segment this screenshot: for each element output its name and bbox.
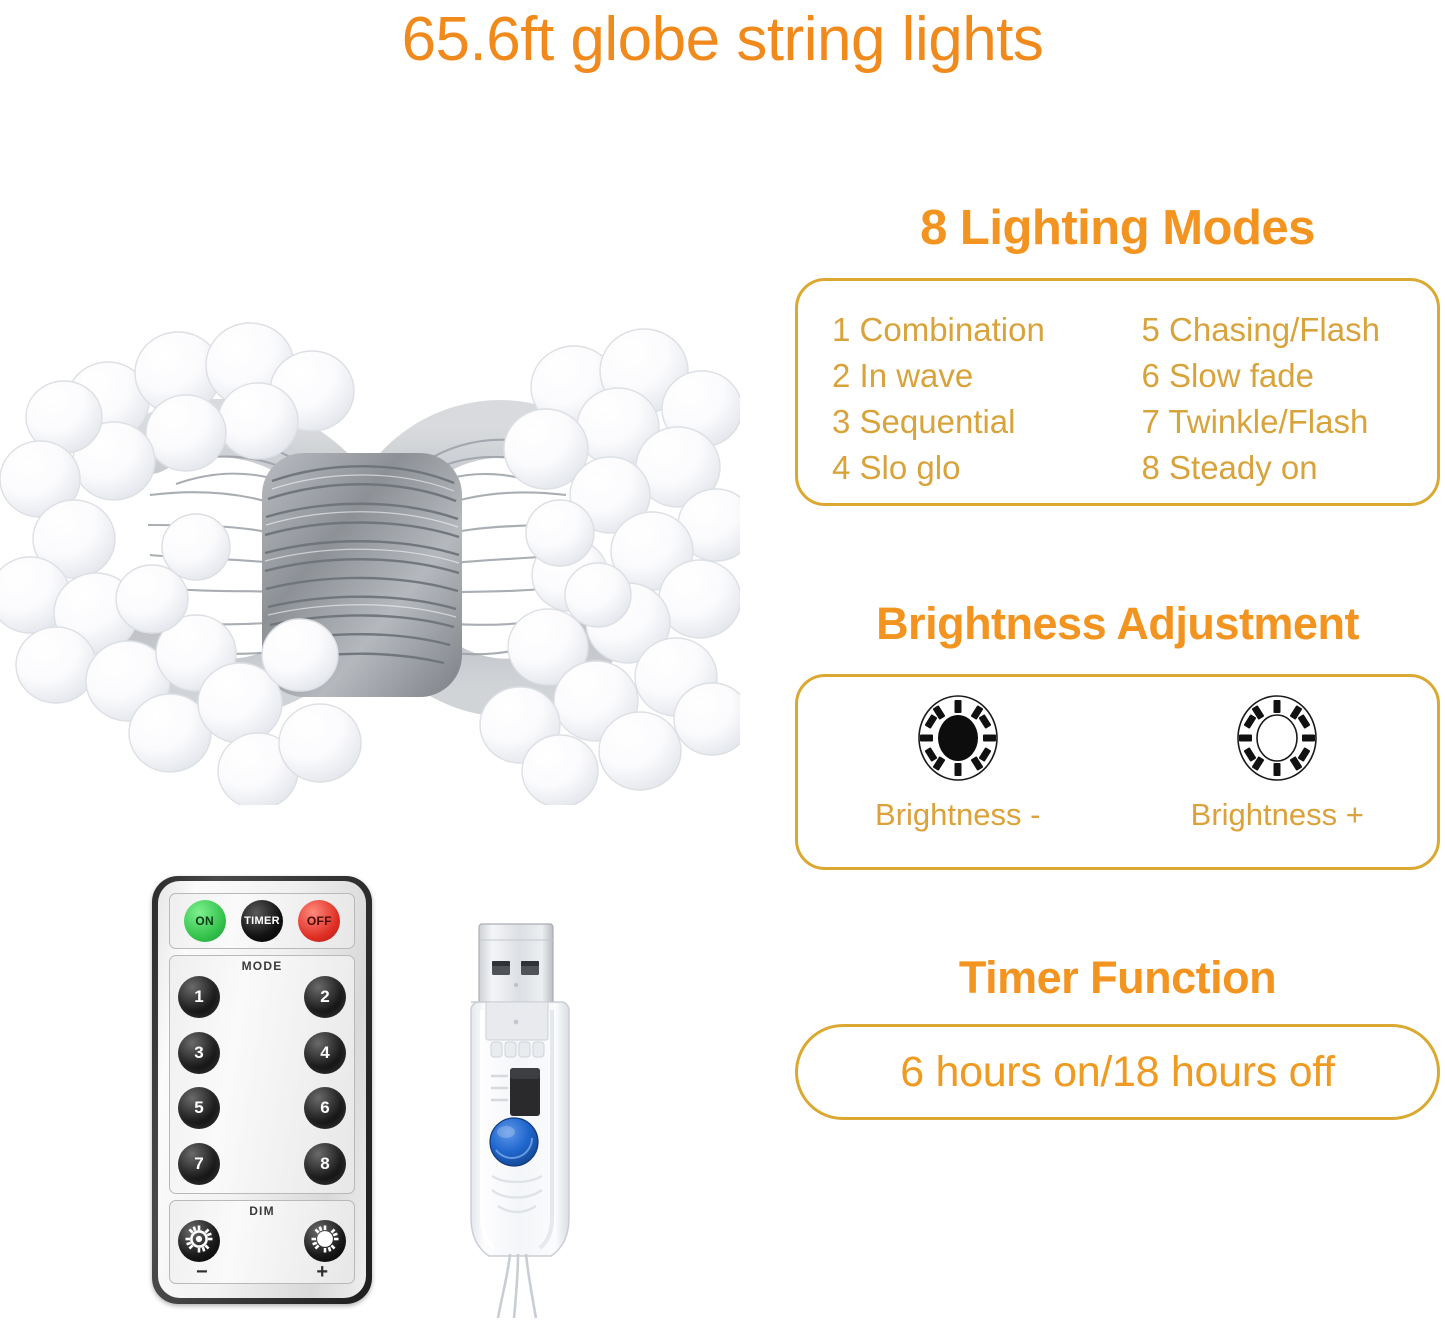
remote-dim-down-button[interactable]	[178, 1220, 220, 1262]
sun-large-icon	[310, 1224, 340, 1259]
remote-mode-button-1[interactable]: 1	[178, 976, 220, 1018]
mode-item: 2 In wave	[832, 353, 1118, 399]
infographic-page: 65.6ft globe string lights	[0, 0, 1445, 1325]
usb-controller-plug	[458, 918, 574, 1318]
features-column: 8 Lighting Modes 1 Combination 2 In wave…	[795, 190, 1440, 1120]
remote-off-button[interactable]: OFF	[298, 900, 340, 942]
remote-dim-sign-row: − +	[178, 1262, 346, 1279]
sun-small-icon	[184, 1224, 214, 1259]
remote-mode-row: 1 2	[178, 976, 346, 1018]
brightness-plus-label: Brightness +	[1191, 797, 1364, 833]
remote-mode-row: 7 8	[178, 1143, 346, 1185]
mode-item: 3 Sequential	[832, 399, 1118, 445]
brightness-minus-label: Brightness -	[875, 797, 1040, 833]
mode-item: 6 Slow fade	[1142, 353, 1438, 399]
mode-item: 8 Steady on	[1142, 445, 1438, 491]
remote-power-panel: ON TIMER OFF	[169, 893, 355, 949]
brightness-minus-cell: Brightness -	[798, 677, 1118, 833]
mode-item: 7 Twinkle/Flash	[1142, 399, 1438, 445]
remote-dim-plus-sign: +	[316, 1265, 328, 1279]
coiled-globe-string-lights-photo	[0, 195, 740, 805]
dimmer-hollow-icon	[1234, 693, 1320, 783]
remote-mode-button-5[interactable]: 5	[178, 1087, 220, 1129]
remote-mode-button-6[interactable]: 6	[304, 1087, 346, 1129]
remote-dim-up-button[interactable]	[304, 1220, 346, 1262]
lighting-modes-heading: 8 Lighting Modes	[795, 200, 1440, 256]
brightness-section: Brightness Adjustment	[795, 598, 1440, 870]
lighting-modes-card: 1 Combination 2 In wave 3 Sequential 4 S…	[795, 278, 1440, 506]
timer-section: Timer Function 6 hours on/18 hours off	[795, 952, 1440, 1120]
remote-on-button[interactable]: ON	[184, 900, 226, 942]
timer-card: 6 hours on/18 hours off	[795, 1024, 1440, 1120]
mode-item: 4 Slo glo	[832, 445, 1118, 491]
mode-item: 1 Combination	[832, 307, 1118, 353]
remote-mode-row: 3 4	[178, 1032, 346, 1074]
page-title: 65.6ft globe string lights	[0, 4, 1445, 75]
remote-mode-label: MODE	[170, 959, 354, 973]
brightness-heading: Brightness Adjustment	[795, 598, 1440, 650]
remote-mode-button-4[interactable]: 4	[304, 1032, 346, 1074]
remote-mode-row: 5 6	[178, 1087, 346, 1129]
lighting-modes-left-column: 1 Combination 2 In wave 3 Sequential 4 S…	[798, 307, 1118, 503]
brightness-plus-cell: Brightness +	[1118, 677, 1438, 833]
remote-mode-button-2[interactable]: 2	[304, 976, 346, 1018]
remote-dim-minus-sign: −	[196, 1265, 208, 1279]
mode-item: 5 Chasing/Flash	[1142, 307, 1438, 353]
remote-mode-button-7[interactable]: 7	[178, 1143, 220, 1185]
remote-face: ON TIMER OFF MODE 1 2 3 4 5 6	[158, 881, 366, 1298]
timer-heading: Timer Function	[795, 952, 1440, 1004]
remote-dim-panel: DIM	[169, 1200, 355, 1284]
remote-mode-button-8[interactable]: 8	[304, 1143, 346, 1185]
lighting-modes-right-column: 5 Chasing/Flash 6 Slow fade 7 Twinkle/Fl…	[1118, 307, 1438, 503]
brightness-card: Brightness -	[795, 674, 1440, 870]
remote-timer-button[interactable]: TIMER	[241, 900, 283, 942]
remote-dim-label: DIM	[170, 1204, 354, 1218]
remote-mode-panel: MODE 1 2 3 4 5 6 7 8	[169, 955, 355, 1194]
timer-value: 6 hours on/18 hours off	[900, 1048, 1335, 1097]
dimmer-filled-icon	[915, 693, 1001, 783]
remote-dim-row	[178, 1220, 346, 1262]
remote-mode-button-3[interactable]: 3	[178, 1032, 220, 1074]
8-key-rf-remote[interactable]: ON TIMER OFF MODE 1 2 3 4 5 6	[152, 876, 372, 1304]
